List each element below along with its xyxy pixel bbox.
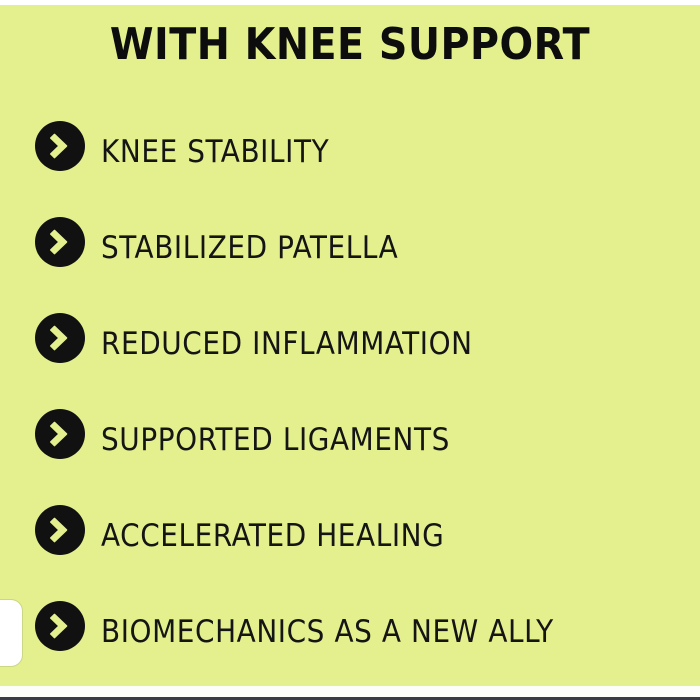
page-title: WITH KNEE SUPPORT bbox=[0, 20, 700, 70]
bottom-edge-strip bbox=[0, 686, 700, 697]
chevron-right-circle-icon bbox=[35, 121, 85, 171]
list-item: BIOMECHANICS AS A NEW ALLY bbox=[0, 584, 700, 680]
list-item: ACCELERATED HEALING bbox=[0, 488, 700, 584]
list-item-label: ACCELERATED HEALING bbox=[101, 488, 444, 584]
chevron-right-circle-icon bbox=[35, 601, 85, 651]
list-item-label: REDUCED INFLAMMATION bbox=[101, 296, 473, 392]
chevron-right-circle-icon bbox=[35, 217, 85, 267]
list-item-label: SUPPORTED LIGAMENTS bbox=[101, 392, 450, 488]
chevron-right-circle-icon bbox=[35, 313, 85, 363]
benefit-list: KNEE STABILITY STABILIZED PATELLA REDUCE… bbox=[0, 104, 700, 680]
knee-support-poster: WITH KNEE SUPPORT KNEE STABILITY STABILI… bbox=[0, 0, 700, 700]
list-item: KNEE STABILITY bbox=[0, 104, 700, 200]
chevron-right-circle-icon bbox=[35, 409, 85, 459]
chevron-right-circle-icon bbox=[35, 505, 85, 555]
list-item: REDUCED INFLAMMATION bbox=[0, 296, 700, 392]
list-item-label: BIOMECHANICS AS A NEW ALLY bbox=[101, 584, 554, 680]
list-item-label: STABILIZED PATELLA bbox=[101, 200, 398, 296]
list-item-label: KNEE STABILITY bbox=[101, 104, 329, 200]
list-item: SUPPORTED LIGAMENTS bbox=[0, 392, 700, 488]
list-item: STABILIZED PATELLA bbox=[0, 200, 700, 296]
